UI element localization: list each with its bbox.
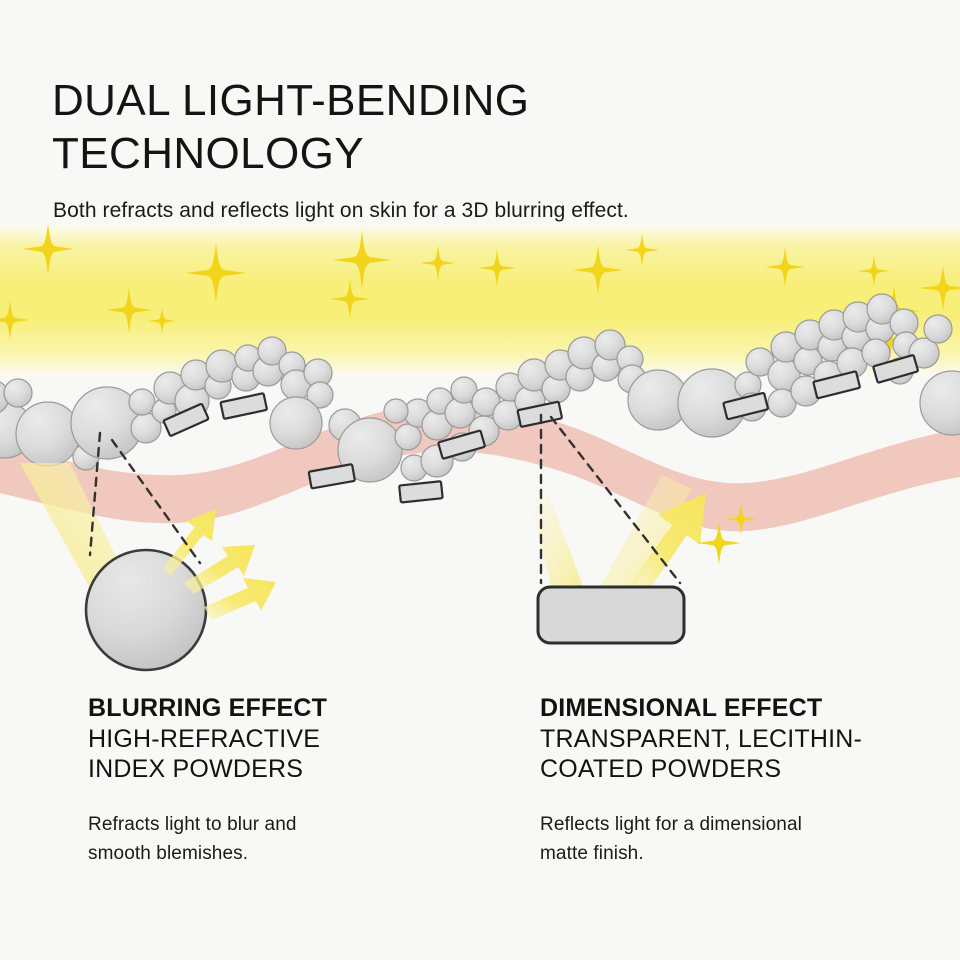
caption-blurring-effect: BLURRING EFFECT HIGH-REFRACTIVE INDEX PO… xyxy=(88,694,488,868)
magnified-platelet xyxy=(538,587,684,643)
refracted-arrow-2 xyxy=(184,545,255,594)
refracted-arrow-3 xyxy=(204,578,276,620)
caption-right-heading: DIMENSIONAL EFFECT xyxy=(540,694,940,724)
illustration-diagram xyxy=(0,225,960,680)
magnified-sphere xyxy=(86,550,206,670)
page-title: DUAL LIGHT-BENDING TECHNOLOGY xyxy=(52,75,772,181)
caption-left-subheading: HIGH-REFRACTIVE INDEX POWDERS xyxy=(88,724,488,784)
captions-row: BLURRING EFFECT HIGH-REFRACTIVE INDEX PO… xyxy=(0,694,960,904)
caption-left-body: Refracts light to blur and smooth blemis… xyxy=(88,810,488,869)
caption-right-subheading: TRANSPARENT, LECITHIN- COATED POWDERS xyxy=(540,724,940,784)
caption-dimensional-effect: DIMENSIONAL EFFECT TRANSPARENT, LECITHIN… xyxy=(540,694,940,868)
page-subtitle: Both refracts and reflects light on skin… xyxy=(53,197,913,224)
infographic-page: DUAL LIGHT-BENDING TECHNOLOGY Both refra… xyxy=(0,0,960,960)
caption-right-body: Reflects light for a dimensional matte f… xyxy=(540,810,940,869)
caption-left-heading: BLURRING EFFECT xyxy=(88,694,488,724)
